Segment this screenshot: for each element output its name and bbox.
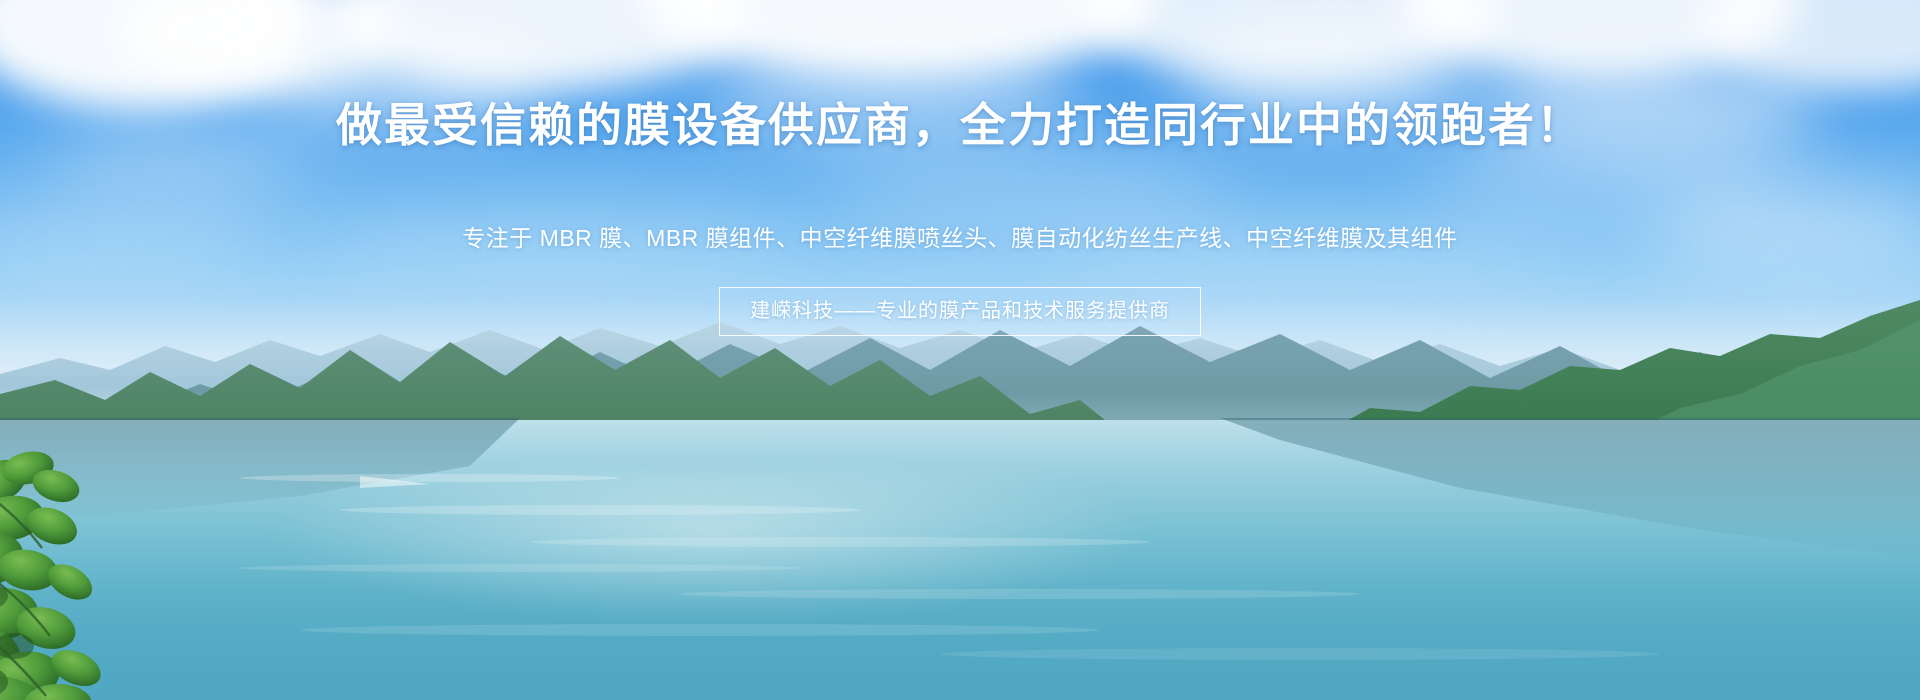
tagline-badge: 建嵘科技——专业的膜产品和技术服务提供商 bbox=[719, 287, 1201, 336]
water-detail-layer bbox=[0, 418, 1920, 700]
page-subtitle: 专注于 MBR 膜、MBR 膜组件、中空纤维膜喷丝头、膜自动化纺丝生产线、中空纤… bbox=[0, 222, 1920, 254]
page-title: 做最受信赖的膜设备供应商，全力打造同行业中的领跑者！ bbox=[0, 97, 1920, 153]
tagline-container: 建嵘科技——专业的膜产品和技术服务提供商 bbox=[0, 287, 1920, 336]
hero-banner: 做最受信赖的膜设备供应商，全力打造同行业中的领跑者！ 专注于 MBR 膜、MBR… bbox=[0, 0, 1920, 700]
foreground-tree-foliage bbox=[0, 420, 200, 700]
